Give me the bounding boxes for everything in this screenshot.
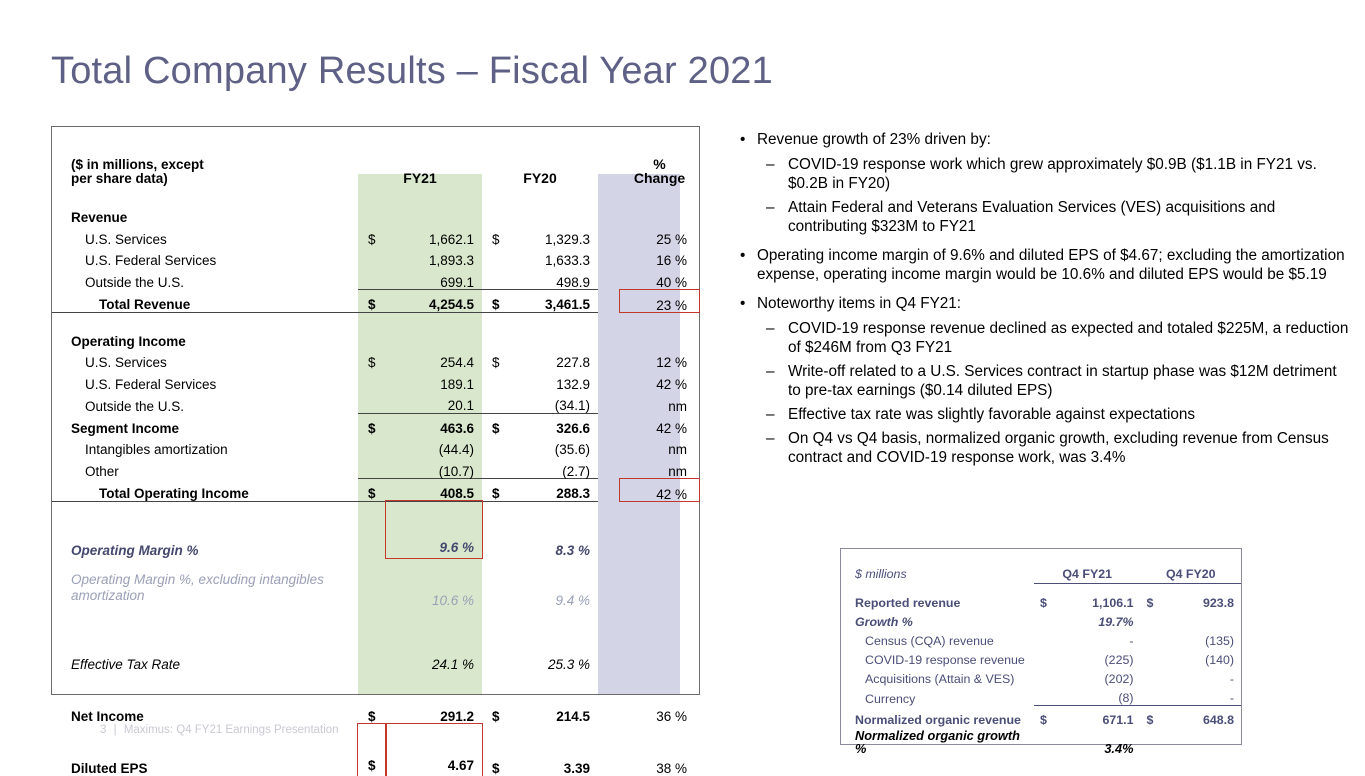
row-label: Currency	[841, 686, 1034, 706]
table-row-operating-margin-ex-intangibles: Operating Margin %, excluding intangible…	[52, 558, 699, 620]
value-fy20: 132.9	[506, 370, 598, 392]
value-q4-fy21: (225)	[1056, 648, 1140, 667]
value-q4-fy20: (140)	[1163, 648, 1241, 667]
value-q4-fy21: (8)	[1056, 686, 1140, 706]
sub-bullet-text: Write-off related to a U.S. Services con…	[788, 362, 1350, 401]
currency-symbol: $	[358, 672, 386, 724]
value-fy21: 1,662.1	[386, 225, 482, 247]
currency-symbol	[1140, 610, 1162, 629]
row-label: Acquisitions (Attain & VES)	[841, 667, 1034, 686]
section-heading-operating-income: Operating Income	[52, 312, 699, 348]
bullet-dot-icon: •	[735, 130, 757, 150]
value-fy20: 214.5	[506, 672, 598, 724]
unit-label: $ millions	[841, 549, 1034, 584]
unit-label: ($ in millions, except per share data)	[52, 127, 358, 189]
row-label: Net Income	[52, 672, 358, 724]
currency-symbol: $	[358, 348, 386, 370]
row-label: Segment Income	[52, 413, 358, 435]
table-row-effective-tax-rate: Effective Tax Rate 24.1 % 25.3 %	[52, 620, 699, 672]
currency-symbol: $	[482, 290, 506, 313]
value-percent-change-highlighted: 23 %	[620, 290, 699, 313]
commentary-bullet-list: • Revenue growth of 23% driven by: – COV…	[735, 130, 1350, 477]
row-label: Intangibles amortization	[52, 435, 358, 457]
sub-bullet-item: – Attain Federal and Veterans Evaluation…	[735, 198, 1350, 237]
currency-symbol	[1140, 648, 1162, 667]
value-q4-fy20: -	[1163, 667, 1241, 686]
footer-text: Maximus: Q4 FY21 Earnings Presentation	[124, 724, 339, 736]
value-fy20: 25.3 %	[506, 620, 598, 672]
value-q4-fy20: (135)	[1163, 629, 1241, 648]
main-results-table-panel: ($ in millions, except per share data) F…	[51, 126, 700, 695]
value-q4-fy20: 648.8	[1163, 705, 1241, 726]
dash-icon: –	[766, 362, 788, 401]
main-results-table: ($ in millions, except per share data) F…	[52, 127, 699, 776]
slide-footer: 3 | Maximus: Q4 FY21 Earnings Presentati…	[100, 724, 339, 736]
row-label: U.S. Federal Services	[52, 370, 358, 392]
value-fy21: 189.1	[386, 370, 482, 392]
bullet-text: Revenue growth of 23% driven by:	[757, 130, 1350, 150]
currency-symbol	[482, 370, 506, 392]
currency-symbol: $	[358, 225, 386, 247]
currency-symbol	[482, 435, 506, 457]
value-percent-change	[620, 501, 699, 558]
sub-bullet-text: COVID-19 response work which grew approx…	[788, 155, 1350, 194]
column-header-fy21: FY21	[358, 127, 482, 189]
row-label: Operating Margin %	[52, 501, 358, 558]
value-q4-fy21: 1,106.1	[1056, 584, 1140, 610]
value-fy21: 24.1 %	[386, 620, 482, 672]
q4-row-currency: Currency (8) -	[841, 686, 1241, 706]
table-row: U.S. Federal Services 1,893.3 1,633.3 16…	[52, 246, 699, 268]
table-row-total-operating-income: Total Operating Income $ 408.5 $ 288.3 4…	[52, 479, 699, 502]
bullet-item: • Revenue growth of 23% driven by:	[735, 130, 1350, 150]
sub-bullet-text: COVID-19 response revenue declined as ex…	[788, 319, 1350, 358]
bullet-group-1: • Revenue growth of 23% driven by: – COV…	[735, 130, 1350, 237]
q4-row-covid-response-revenue: COVID-19 response revenue (225) (140)	[841, 648, 1241, 667]
dash-icon: –	[766, 155, 788, 194]
q4-row-normalized-organic-growth: Normalized organic growth % 3.4%	[841, 726, 1241, 756]
dash-icon: –	[766, 319, 788, 358]
currency-symbol	[358, 370, 386, 392]
table-row: Outside the U.S. 20.1 (34.1) nm	[52, 391, 699, 413]
row-label: Outside the U.S.	[52, 268, 358, 290]
currency-symbol	[1034, 610, 1056, 629]
q4-normalized-organic-revenue-table-panel: $ millions Q4 FY21 Q4 FY20 Reported reve…	[840, 548, 1242, 745]
bullet-group-2: • Operating income margin of 9.6% and di…	[735, 246, 1350, 285]
table-header-row: ($ in millions, except per share data) F…	[52, 127, 699, 189]
value-percent-change: nm	[620, 435, 699, 457]
footer-separator: |	[114, 724, 117, 736]
value-percent-change: nm	[620, 391, 699, 413]
row-label: Growth %	[841, 610, 1034, 629]
value-percent-change: 25 %	[620, 225, 699, 247]
row-label: Total Revenue	[52, 290, 358, 313]
value-percent-change: 12 %	[620, 348, 699, 370]
currency-symbol: $	[482, 348, 506, 370]
currency-symbol	[1140, 686, 1162, 706]
slide: Total Company Results – Fiscal Year 2021…	[0, 0, 1365, 768]
currency-symbol	[1034, 686, 1056, 706]
column-header-q4-fy21: Q4 FY21	[1034, 549, 1141, 584]
value-fy21: (10.7)	[386, 457, 482, 479]
value-percent-change: 36 %	[620, 672, 699, 724]
value-fy21: 699.1	[386, 268, 482, 290]
column-header-fy20: FY20	[482, 127, 598, 189]
column-header-percent-change: % Change	[620, 127, 699, 189]
row-label: Census (CQA) revenue	[841, 629, 1034, 648]
value-q4-fy21: 671.1	[1056, 705, 1140, 726]
table-row-total-revenue: Total Revenue $ 4,254.5 $ 3,461.5 23 %	[52, 290, 699, 313]
value-percent-change	[620, 620, 699, 672]
sub-bullet-item: – Effective tax rate was slightly favora…	[735, 405, 1350, 425]
value-fy21: 1,893.3	[386, 246, 482, 268]
q4-row-growth-pct: Growth % 19.7%	[841, 610, 1241, 629]
row-label: U.S. Federal Services	[52, 246, 358, 268]
currency-symbol	[358, 457, 386, 479]
q4-row-acquisitions: Acquisitions (Attain & VES) (202) -	[841, 667, 1241, 686]
row-label: U.S. Services	[52, 225, 358, 247]
value-fy21: 254.4	[386, 348, 482, 370]
row-label: Other	[52, 457, 358, 479]
currency-symbol	[1034, 648, 1056, 667]
value-q4-fy21: 3.4%	[1056, 726, 1140, 756]
sub-bullet-item: – COVID-19 response revenue declined as …	[735, 319, 1350, 358]
sub-bullet-text: Attain Federal and Veterans Evaluation S…	[788, 198, 1350, 237]
table-row-segment-income: Segment Income $ 463.6 $ 326.6 42 %	[52, 413, 699, 435]
q4-row-census-revenue: Census (CQA) revenue - (135)	[841, 629, 1241, 648]
sub-bullet-item: – COVID-19 response work which grew appr…	[735, 155, 1350, 194]
value-fy20: (34.1)	[506, 391, 598, 413]
currency-symbol: $	[482, 479, 506, 502]
value-fy20: 1,329.3	[506, 225, 598, 247]
sub-bullet-item: – Write-off related to a U.S. Services c…	[735, 362, 1350, 401]
row-label: Outside the U.S.	[52, 391, 358, 413]
bullet-dot-icon: •	[735, 246, 757, 285]
value-q4-fy21: -	[1056, 629, 1140, 648]
table-row: U.S. Federal Services 189.1 132.9 42 %	[52, 370, 699, 392]
value-q4-fy20: 923.8	[1163, 584, 1241, 610]
value-fy21: 4,254.5	[386, 290, 482, 313]
row-label: Operating Margin %, excluding intangible…	[52, 558, 358, 620]
currency-symbol	[482, 457, 506, 479]
table-row: Outside the U.S. 699.1 498.9 40 %	[52, 268, 699, 290]
currency-symbol: $	[482, 413, 506, 435]
page-number: 3	[100, 724, 106, 736]
q4-row-reported-revenue: Reported revenue $ 1,106.1 $ 923.8	[841, 584, 1241, 610]
table-row-operating-margin: Operating Margin % 9.6 % 8.3 %	[52, 501, 699, 558]
row-label: Normalized organic revenue	[841, 705, 1034, 726]
table-row-net-income: Net Income $ 291.2 $ 214.5 36 %	[52, 672, 699, 724]
value-fy21: 408.5	[386, 479, 482, 502]
currency-symbol: $	[482, 672, 506, 724]
dash-icon: –	[766, 405, 788, 425]
row-label: Total Operating Income	[52, 479, 358, 502]
row-label: COVID-19 response revenue	[841, 648, 1034, 667]
value-fy20: 288.3	[506, 479, 598, 502]
bullet-item: • Noteworthy items in Q4 FY21:	[735, 294, 1350, 314]
value-fy20: 326.6	[506, 413, 598, 435]
value-percent-change: 42 %	[620, 413, 699, 435]
table-row: Other (10.7) (2.7) nm	[52, 457, 699, 479]
value-fy21: (44.4)	[386, 435, 482, 457]
currency-symbol	[358, 391, 386, 413]
row-label: Reported revenue	[841, 584, 1034, 610]
currency-symbol	[358, 435, 386, 457]
column-header-q4-fy20: Q4 FY20	[1140, 549, 1241, 584]
bullet-text: Noteworthy items in Q4 FY21:	[757, 294, 1350, 314]
currency-symbol	[482, 246, 506, 268]
table-row: U.S. Services $ 1,662.1 $ 1,329.3 25 %	[52, 225, 699, 247]
currency-symbol	[1140, 667, 1162, 686]
section-heading-revenue: Revenue	[52, 189, 699, 225]
value-fy20: 8.3 %	[506, 501, 598, 558]
bullet-dot-icon: •	[735, 294, 757, 314]
value-fy20: 9.4 %	[506, 558, 598, 620]
row-label: Normalized organic growth %	[841, 726, 1034, 756]
currency-symbol: $	[1140, 705, 1162, 726]
value-fy20: 1,633.3	[506, 246, 598, 268]
value-fy20: (35.6)	[506, 435, 598, 457]
sub-bullet-text: Effective tax rate was slightly favorabl…	[788, 405, 1350, 425]
value-q4-fy20	[1163, 610, 1241, 629]
bullet-item: • Operating income margin of 9.6% and di…	[735, 246, 1350, 285]
value-percent-change: 16 %	[620, 246, 699, 268]
dash-icon: –	[766, 198, 788, 237]
currency-symbol	[482, 268, 506, 290]
dash-icon: –	[766, 429, 788, 468]
unit-label-line2: per share data)	[71, 171, 168, 186]
value-fy21: 10.6 %	[386, 558, 482, 620]
table-row: U.S. Services $ 254.4 $ 227.8 12 %	[52, 348, 699, 370]
currency-symbol	[482, 391, 506, 413]
currency-symbol	[1034, 667, 1056, 686]
currency-symbol: $	[1034, 705, 1056, 726]
value-percent-change: nm	[620, 457, 699, 479]
value-fy21: 291.2	[386, 672, 482, 724]
currency-symbol: $	[1140, 584, 1162, 610]
value-fy21: 20.1	[386, 391, 482, 413]
value-fy20: (2.7)	[506, 457, 598, 479]
currency-symbol	[358, 268, 386, 290]
value-percent-change: 40 %	[620, 268, 699, 290]
currency-symbol: $	[358, 479, 386, 502]
q4-row-normalized-organic-revenue: Normalized organic revenue $ 671.1 $ 648…	[841, 705, 1241, 726]
value-q4-fy20: -	[1163, 686, 1241, 706]
currency-symbol	[358, 246, 386, 268]
currency-symbol: $	[358, 290, 386, 313]
spacer-cell	[598, 127, 620, 189]
q4-comparison-table: $ millions Q4 FY21 Q4 FY20 Reported reve…	[841, 549, 1241, 756]
currency-symbol: $	[358, 413, 386, 435]
value-fy20: 3,461.5	[506, 290, 598, 313]
value-fy21-highlighted: 9.6 %	[386, 501, 482, 558]
value-fy20: 498.9	[506, 268, 598, 290]
sub-bullet-item: – On Q4 vs Q4 basis, normalized organic …	[735, 429, 1350, 468]
sub-bullet-text: On Q4 vs Q4 basis, normalized organic gr…	[788, 429, 1350, 468]
q4-table-header-row: $ millions Q4 FY21 Q4 FY20	[841, 549, 1241, 584]
page-title: Total Company Results – Fiscal Year 2021	[51, 50, 773, 93]
currency-symbol	[1140, 629, 1162, 648]
row-label: U.S. Services	[52, 348, 358, 370]
value-q4-fy21: (202)	[1056, 667, 1140, 686]
currency-symbol	[1034, 629, 1056, 648]
bullet-group-3: • Noteworthy items in Q4 FY21: – COVID-1…	[735, 294, 1350, 468]
value-q4-fy21: 19.7%	[1056, 610, 1140, 629]
currency-symbol: $	[1034, 584, 1056, 610]
value-percent-change: 42 %	[620, 370, 699, 392]
row-label: Effective Tax Rate	[52, 620, 358, 672]
value-percent-change	[620, 558, 699, 620]
currency-symbol: $	[482, 225, 506, 247]
value-fy21: 463.6	[386, 413, 482, 435]
bullet-text: Operating income margin of 9.6% and dilu…	[757, 246, 1350, 285]
value-fy20: 227.8	[506, 348, 598, 370]
table-row: Intangibles amortization (44.4) (35.6) n…	[52, 435, 699, 457]
value-percent-change-highlighted: 42 %	[620, 479, 699, 502]
